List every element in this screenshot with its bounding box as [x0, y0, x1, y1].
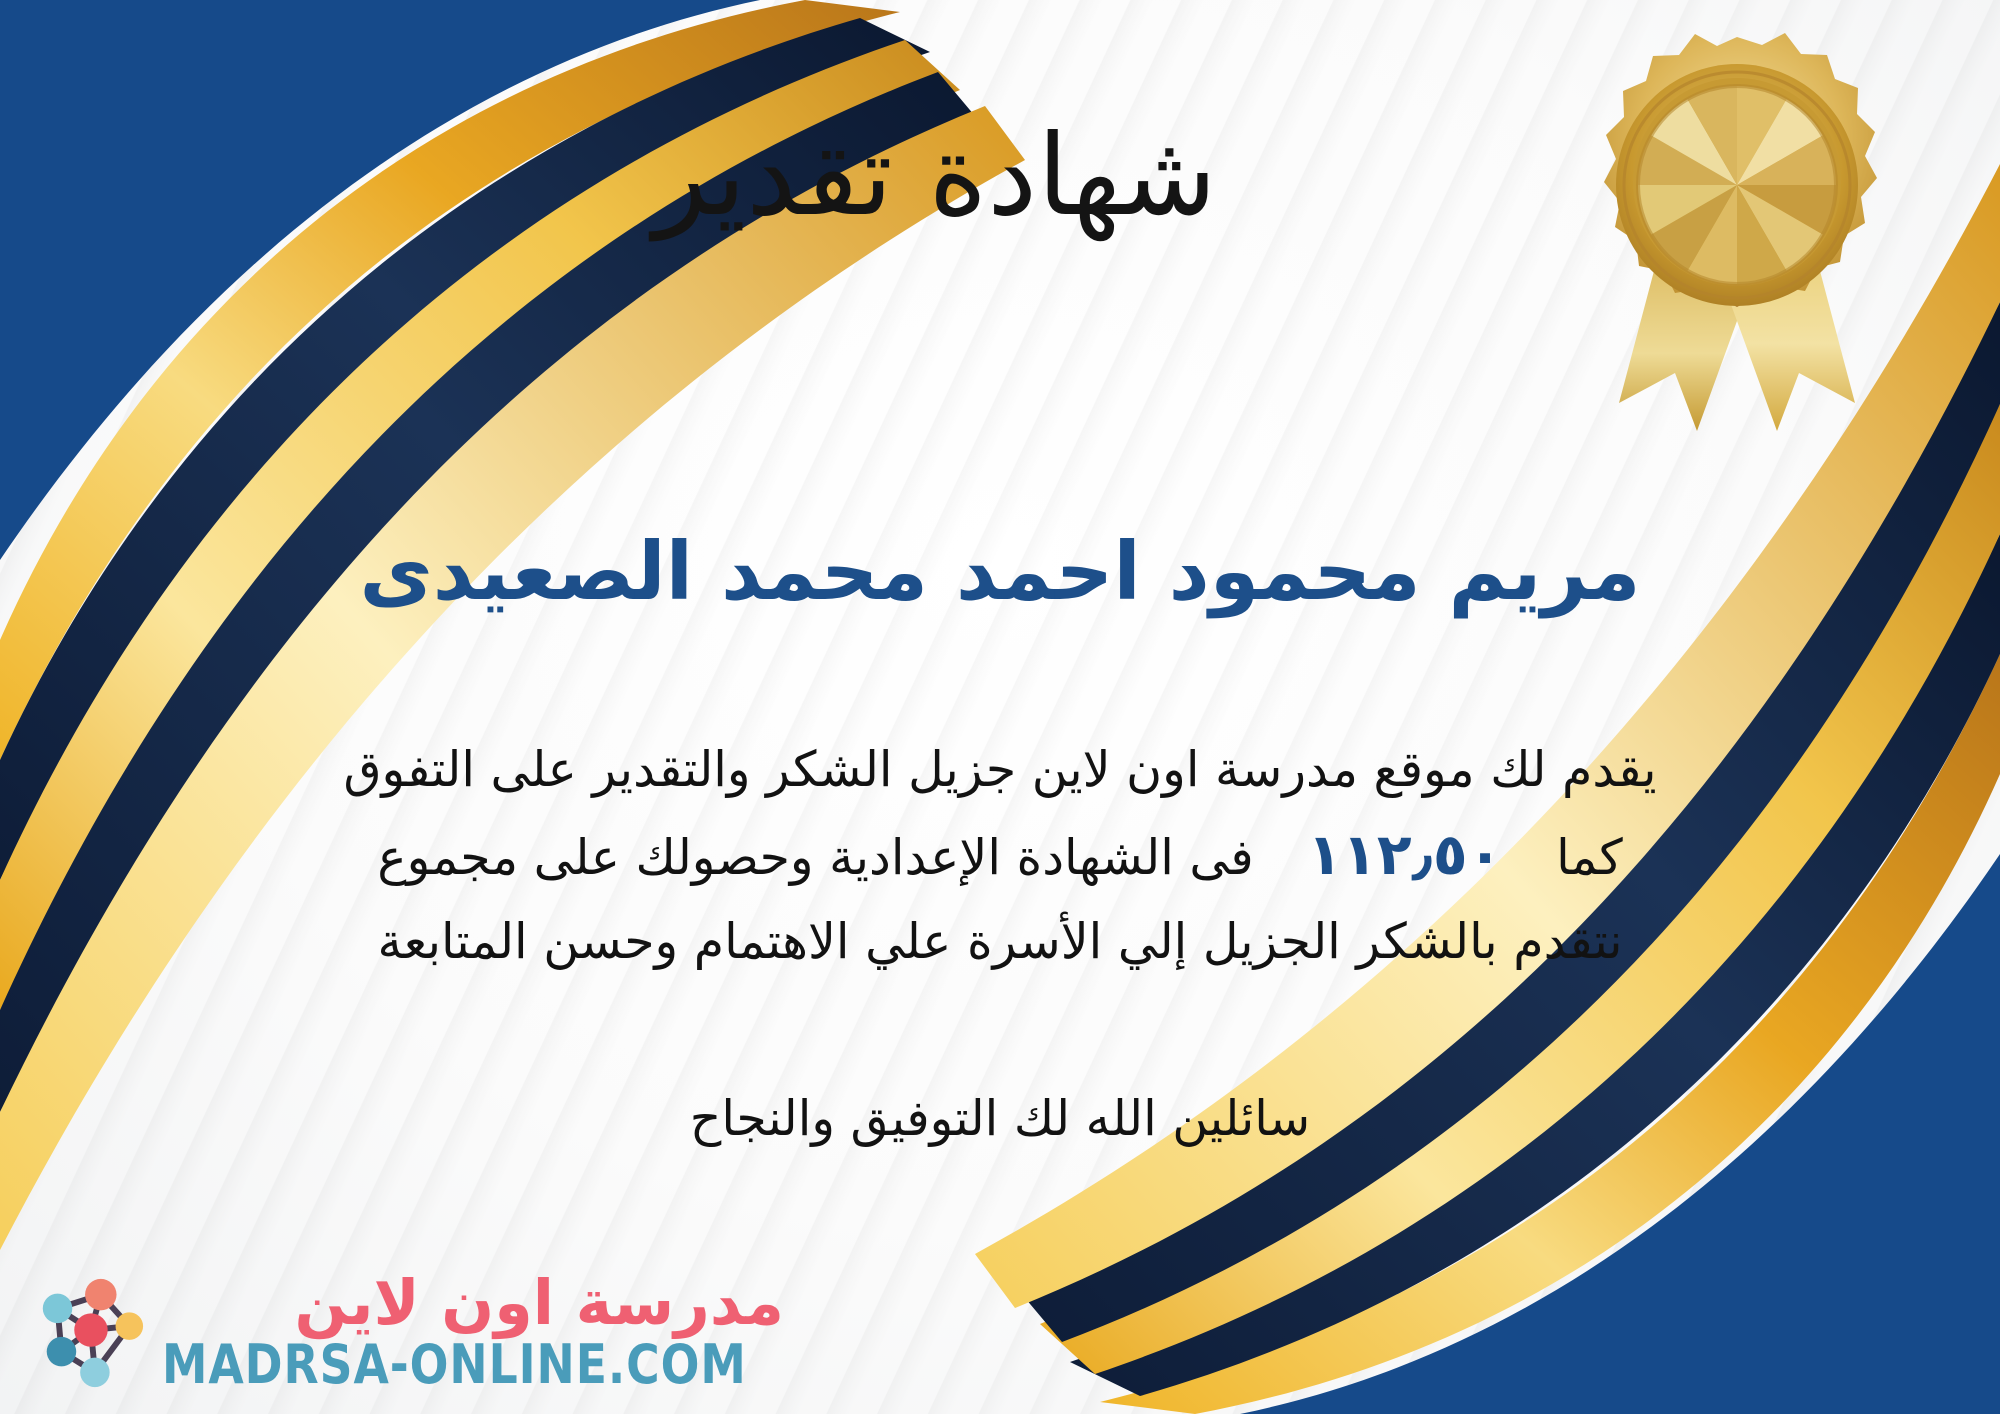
certificate-body: يقدم لك موقع مدرسة اون لاين جزيل الشكر و… [90, 730, 1910, 981]
recipient-name: مريم محمود احمد محمد الصعيدى [0, 524, 2000, 620]
body-line-3: نتقدم بالشكر الجزيل إلي الأسرة علي الاهت… [90, 902, 1910, 981]
brand-logo[interactable]: مدرسة اون لاين MADRSA-ONLINE.COM [30, 1272, 784, 1392]
body-line-2-after-score: كما [1556, 829, 1623, 886]
total-score-value: ١١٢٫٥٠ [1269, 809, 1540, 901]
certificate-title: شهادة تقدير [0, 112, 2000, 241]
body-line-1: يقدم لك موقع مدرسة اون لاين جزيل الشكر و… [90, 730, 1910, 809]
brand-text: مدرسة اون لاين MADRSA-ONLINE.COM [162, 1272, 784, 1392]
body-line-2-before-score: فى الشهادة الإعدادية وحصولك على مجموع [377, 829, 1253, 886]
body-line-2: كما ١١٢٫٥٠ فى الشهادة الإعدادية وحصولك ع… [90, 809, 1910, 901]
closing-line: سائلين الله لك التوفيق والنجاح [0, 1090, 2000, 1147]
certificate-page: شهادة تقدير مريم محمود احمد محمد الصعيدى… [0, 0, 2000, 1414]
network-nodes-icon [30, 1273, 148, 1391]
brand-website: MADRSA-ONLINE.COM [162, 1338, 747, 1392]
certificate-content: شهادة تقدير مريم محمود احمد محمد الصعيدى… [0, 0, 2000, 1414]
brand-arabic-name: مدرسة اون لاين [294, 1272, 784, 1334]
